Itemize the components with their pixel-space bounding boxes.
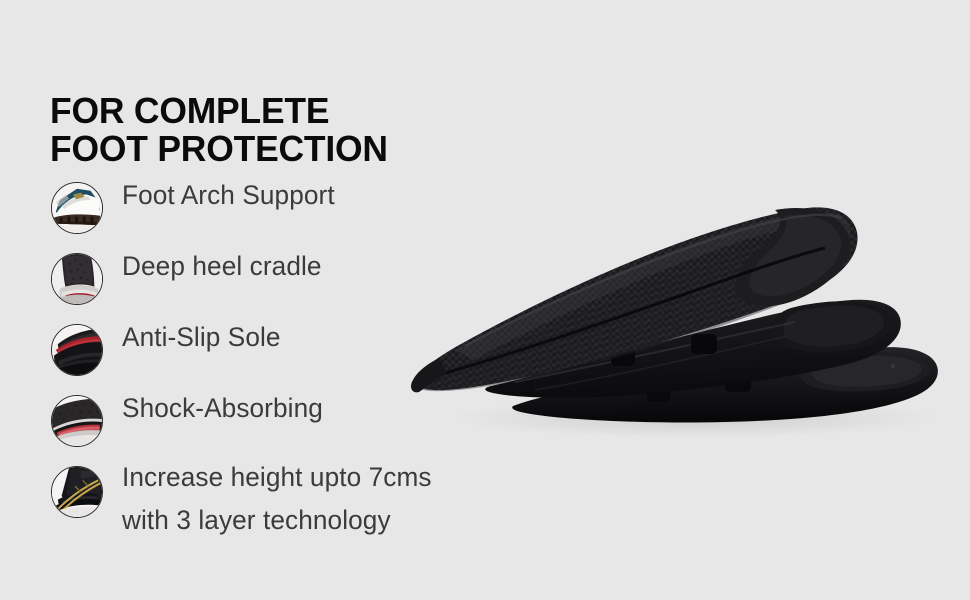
headline-line-2: FOOT PROTECTION: [50, 130, 444, 168]
heel-cradle-icon: [51, 253, 103, 305]
product-image-three-layer-insole: [395, 150, 970, 440]
product-feature-banner: FOR COMPLETE FOOT PROTECTION: [0, 0, 970, 600]
white-sneaker-arch-icon: [51, 182, 103, 234]
anti-slip-sole-icon: [51, 324, 103, 376]
black-boot-gold-laces-icon: [51, 466, 103, 518]
page-title: FOR COMPLETE FOOT PROTECTION: [50, 92, 450, 168]
feature-label: Increase height upto 7cms with 3 layer t…: [122, 456, 452, 542]
list-item: Increase height upto 7cms with 3 layer t…: [0, 460, 470, 550]
shock-absorbing-air-cushion-icon: [51, 395, 103, 447]
headline-line-1: FOR COMPLETE: [50, 92, 444, 130]
